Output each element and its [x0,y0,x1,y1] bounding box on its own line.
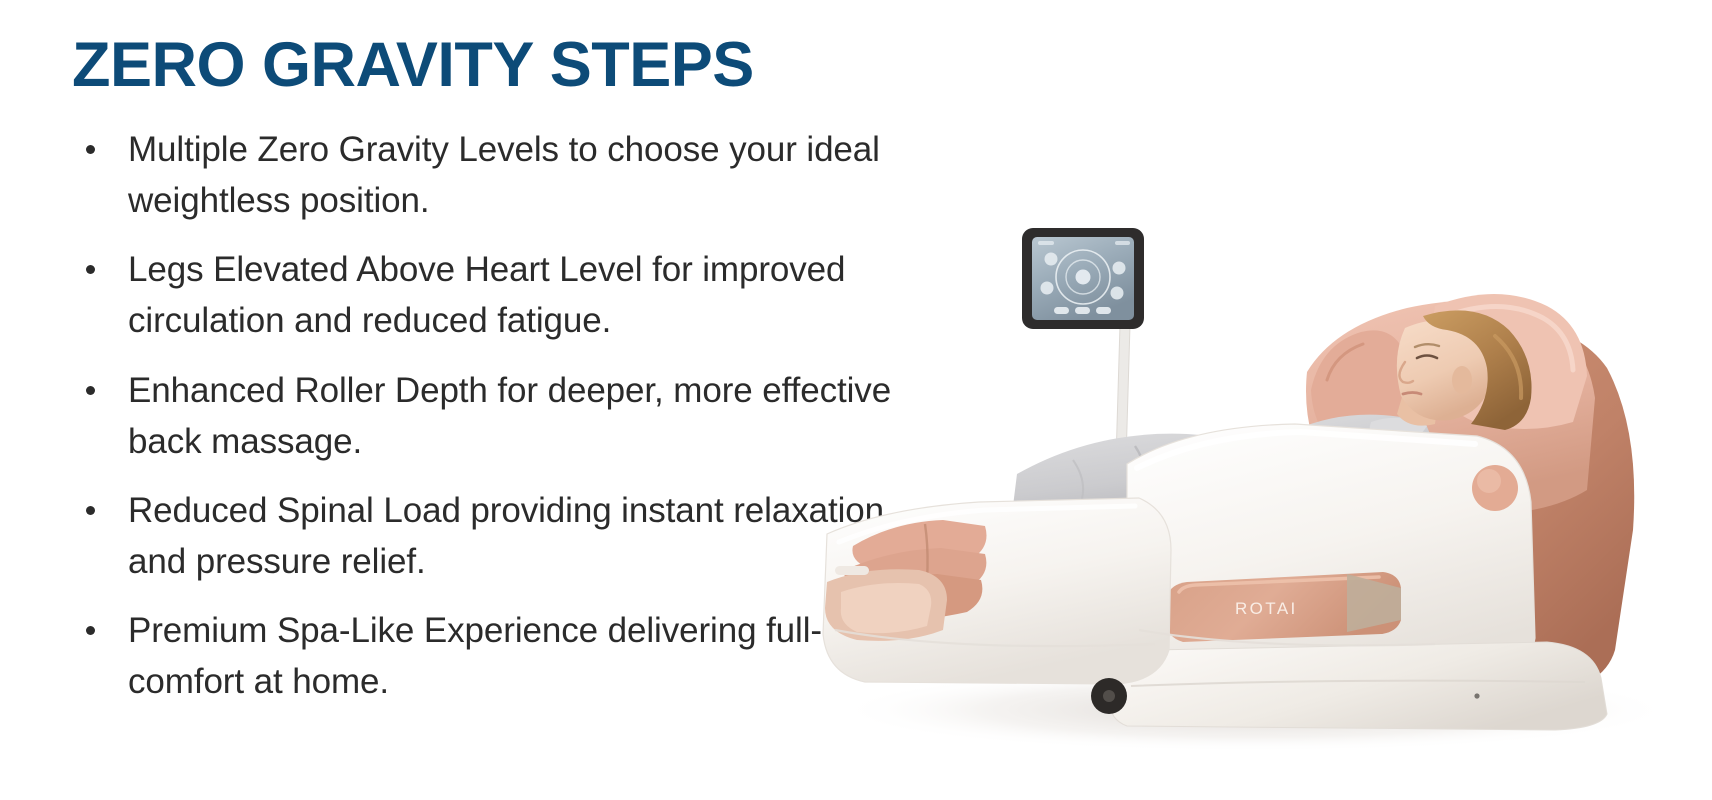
bullet-icon [86,626,95,635]
foot-well-button[interactable] [835,566,869,575]
screen-icon-top-left[interactable] [1045,253,1058,266]
caster-wheel-hub [1103,690,1115,702]
bullet-icon [86,506,95,515]
shell-accent-button-highlight [1477,469,1501,493]
base-screw-dot [1474,693,1479,698]
bullet-icon [86,145,95,154]
bullet-icon [86,265,95,274]
screen-body-icon[interactable] [1076,270,1091,285]
chair-base-pedestal [1110,642,1607,730]
person-ear [1452,366,1472,394]
slide-canvas: ZERO GRAVITY STEPS Multiple Zero Gravity… [0,0,1712,800]
screen-status-bar [1038,241,1054,245]
screen-tab-1[interactable] [1054,307,1069,314]
person-lips [1403,393,1421,395]
screen-icon-bottom-right[interactable] [1111,287,1124,300]
tablet-remote[interactable] [1022,228,1144,460]
page-title: ZERO GRAVITY STEPS [72,32,912,98]
screen-tab-3[interactable] [1096,307,1111,314]
screen-tab-2[interactable] [1075,307,1090,314]
screen-icon-left[interactable] [1041,282,1054,295]
screen-signal-indicator [1115,241,1130,245]
brand-label: ROTAI [1235,599,1298,618]
product-photo-massage-chair: Woman reclining in a white and rose-gold… [735,130,1712,800]
bullet-icon [86,386,95,395]
armrest-brand-panel: ROTAI [1167,572,1401,642]
screen-icon-right[interactable] [1113,262,1126,275]
foot-well-inner [841,583,931,633]
